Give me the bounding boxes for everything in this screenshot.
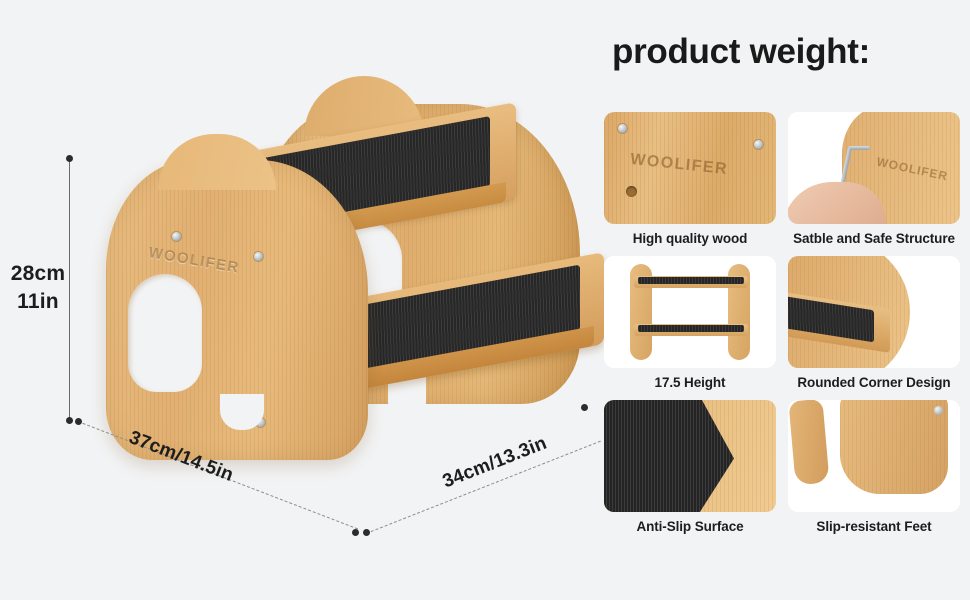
feature-thumbnail-anti-slip [604,400,776,512]
height-dimension-endpoint-bottom [66,417,73,424]
feature-cell-anti-slip-surface: Anti-Slip Surface [604,400,776,534]
feature-caption: Slip-resistant Feet [788,519,960,534]
feature-grid: WOOLIFER High quality wood WOOLIFER [604,112,960,534]
stool-front-view-graphic [604,256,776,368]
screw-icon [172,232,181,241]
width-dimension-endpoint-right [352,529,359,536]
hero-product-panel: WOOLIFER 28cm 11in 37cm/14.5in 34cm/13.3… [0,0,596,600]
elephant-ear-cutout-near [128,274,202,392]
feature-cell-high-quality-wood: WOOLIFER High quality wood [604,112,776,246]
stool-lower-tread [634,324,748,336]
feature-caption: Rounded Corner Design [788,375,960,390]
feature-thumbnail-rounded-corner [788,256,960,368]
screw-icon [934,406,943,415]
feature-thumbnail-front-view [604,256,776,368]
height-dimension-line [69,158,70,420]
height-dimension-label: 28cm 11in [10,260,66,316]
anti-slip-texture-graphic [604,400,776,512]
brand-engraving: WOOLIFER [629,151,729,179]
depth-dimension-label: 34cm/13.3in [440,433,550,494]
brand-engraving: WOOLIFER [147,244,241,277]
brand-engraving: WOOLIFER [875,155,949,184]
rounded-corner-graphic [788,256,960,368]
feature-caption: Satble and Safe Structure [788,231,960,246]
elephant-feet-graphic [788,400,960,512]
feature-caption: Anti-Slip Surface [604,519,776,534]
elephant-step-stool-illustration: WOOLIFER [88,104,588,434]
feature-thumbnail-hand-hex-key: WOOLIFER [788,112,960,224]
feature-cell-slip-resistant-feet: Slip-resistant Feet [788,400,960,534]
height-dimension-endpoint-top [66,155,73,162]
elephant-trunk-notch [220,394,264,430]
depth-dimension-endpoint-left [363,529,370,536]
drill-hole-icon [626,186,637,197]
height-cm-value: 28cm [10,260,66,288]
feature-cell-height: 17.5 Height [604,256,776,390]
screw-icon [618,124,627,133]
feature-cell-rounded-corner: Rounded Corner Design [788,256,960,390]
stool-upper-tread [634,276,748,288]
feature-cell-stable-safe-structure: WOOLIFER Satble and Safe Structure [788,112,960,246]
elephant-foot-front [840,400,948,494]
width-dimension-endpoint-left [75,418,82,425]
feature-thumbnail-feet [788,400,960,512]
depth-dimension-endpoint-right [581,404,588,411]
hand-assembly-graphic: WOOLIFER [788,112,960,224]
bamboo-board-graphic: WOOLIFER [604,112,776,224]
height-in-value: 11in [10,288,66,316]
feature-caption: High quality wood [604,231,776,246]
screw-icon [754,140,763,149]
product-infographic: WOOLIFER 28cm 11in 37cm/14.5in 34cm/13.3… [0,0,970,600]
page-title: product weight: [612,32,870,72]
feature-caption: 17.5 Height [604,375,776,390]
feature-thumbnail-bamboo-board: WOOLIFER [604,112,776,224]
screw-icon [254,252,263,261]
elephant-foot-rear [788,400,829,485]
